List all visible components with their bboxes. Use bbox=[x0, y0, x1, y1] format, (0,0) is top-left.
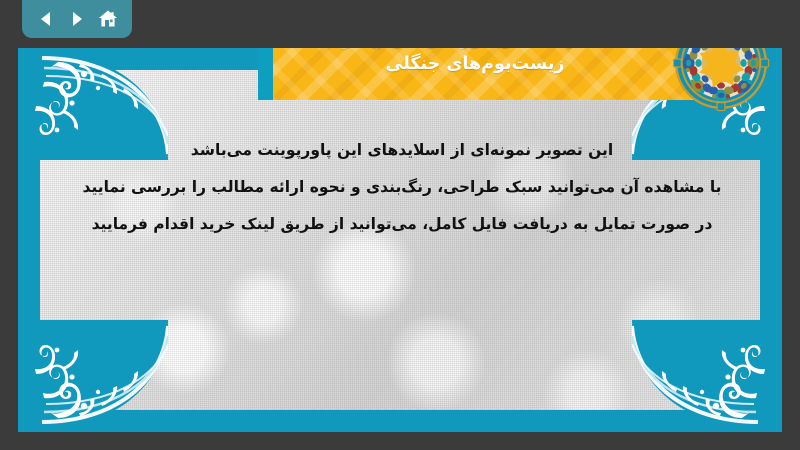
forward-triangle-icon[interactable] bbox=[66, 8, 88, 30]
navigation-toolbar bbox=[22, 0, 132, 38]
slide-body-text: این تصویر نمونه‌ای از اسلایدهای این پاور… bbox=[60, 132, 744, 243]
home-icon[interactable] bbox=[97, 8, 119, 30]
body-line-3: در صورت تمایل به دریافت فایل کامل، می‌تو… bbox=[60, 206, 744, 243]
body-line-1: این تصویر نمونه‌ای از اسلایدهای این پاور… bbox=[60, 132, 744, 169]
body-line-2: با مشاهده آن می‌توانید سبک طراحی، رنگ‌بن… bbox=[60, 169, 744, 206]
slide-viewer: این تصویر نمونه‌ای از اسلایدهای این پاور… bbox=[0, 0, 800, 450]
back-triangle-icon[interactable] bbox=[35, 8, 57, 30]
